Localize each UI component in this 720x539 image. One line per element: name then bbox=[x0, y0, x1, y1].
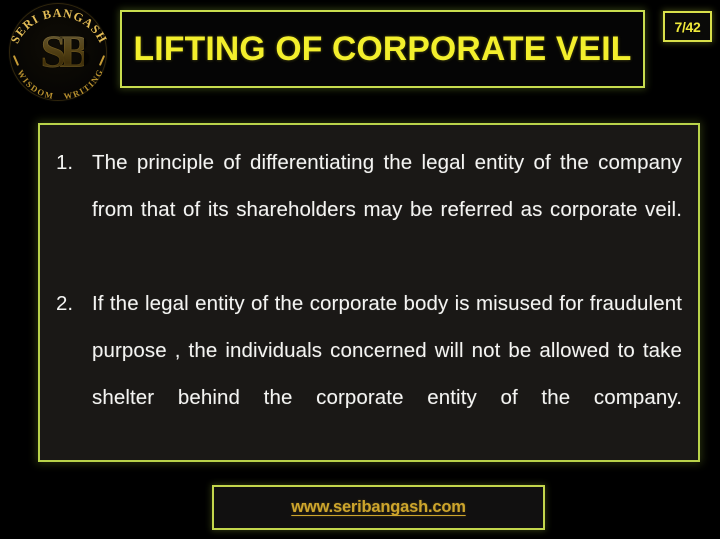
list-item-text: If the legal entity of the corporate bod… bbox=[92, 280, 682, 462]
content-box: 1. The principle of differentiating the … bbox=[38, 123, 700, 462]
logo-arc-bottom-left-textpath: WISDOM bbox=[15, 68, 55, 101]
logo-arc-top-text: SERI BANGASH bbox=[8, 6, 111, 46]
website-link[interactable]: www.seribangash.com bbox=[291, 498, 465, 517]
logo-arc-bottom-right-text: WRITING bbox=[63, 67, 105, 101]
page-title: LIFTING OF CORPORATE VEIL bbox=[133, 30, 631, 69]
seri-bangash-logo: SERI BANGASH WISDOM WRITING SB bbox=[2, 0, 120, 104]
list-item-number: 1. bbox=[50, 139, 92, 186]
logo-arc-top-textpath: SERI BANGASH bbox=[8, 6, 111, 46]
numbered-list: 1. The principle of differentiating the … bbox=[50, 139, 682, 462]
footer-box: www.seribangash.com bbox=[212, 485, 545, 530]
list-item: 2. If the legal entity of the corporate … bbox=[50, 280, 682, 462]
list-item: 1. The principle of differentiating the … bbox=[50, 139, 682, 280]
list-item-number: 2. bbox=[50, 280, 92, 327]
page-number-text: 7/42 bbox=[674, 19, 700, 35]
page-number-badge: 7/42 bbox=[663, 11, 712, 42]
slide-canvas: SERI BANGASH WISDOM WRITING SB LIFTING O… bbox=[0, 0, 720, 539]
slide-title-box: LIFTING OF CORPORATE VEIL bbox=[120, 10, 645, 88]
logo-arc-text: SERI BANGASH WISDOM WRITING bbox=[2, 0, 120, 104]
logo-arc-bottom-right-textpath: WRITING bbox=[63, 67, 105, 101]
logo-arc-bottom-left-text: WISDOM bbox=[15, 68, 55, 101]
list-item-text: The principle of differentiating the leg… bbox=[92, 139, 682, 280]
